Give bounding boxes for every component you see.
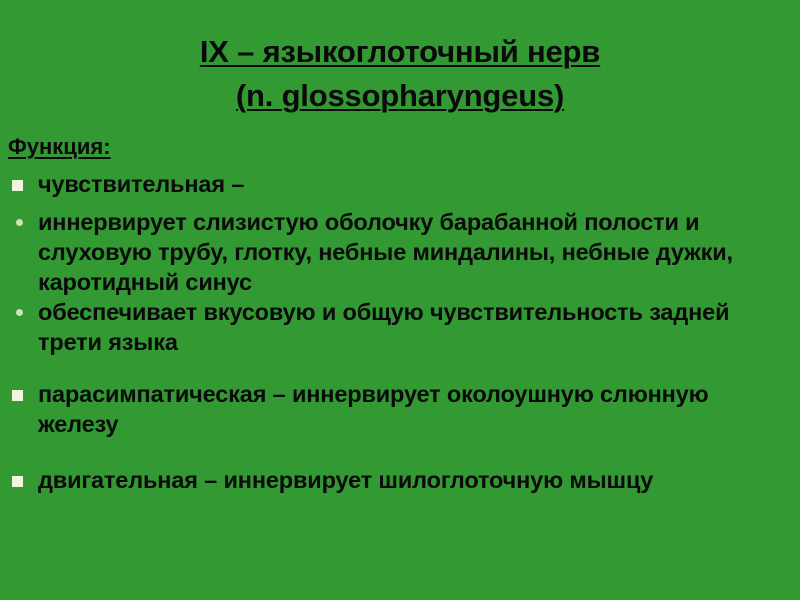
list-item-parasympathetic: парасимпатическая – иннервирует околоушн… xyxy=(0,379,800,439)
list-item-parasympathetic-text: парасимпатическая – иннервирует околоушн… xyxy=(38,379,792,439)
spacer xyxy=(0,439,800,465)
list-item-sensory-text: чувствительная – xyxy=(38,169,792,199)
function-heading-label: Функция: xyxy=(8,134,111,159)
square-bullet-icon xyxy=(12,180,23,191)
list-item-taste-sensation-text: обеспечивает вкусовую и общую чувствител… xyxy=(38,297,792,357)
list-item-mucosa-innervation: иннервирует слизистую оболочку барабанно… xyxy=(0,207,800,297)
dot-bullet-icon xyxy=(16,219,23,226)
slide-title-line-1: IX – языкоглоточный нерв xyxy=(0,30,800,74)
dot-bullet-icon xyxy=(16,309,23,316)
list-item-motor-text: двигательная – иннервирует шилоглоточную… xyxy=(38,465,792,495)
list-item-mucosa-innervation-text: иннервирует слизистую оболочку барабанно… xyxy=(38,207,792,297)
spacer xyxy=(0,357,800,379)
square-bullet-icon xyxy=(12,390,23,401)
slide-body: Функция: чувствительная – иннервирует сл… xyxy=(0,132,800,495)
list-item-motor: двигательная – иннервирует шилоглоточную… xyxy=(0,465,800,495)
spacer xyxy=(0,199,800,207)
list-item-sensory: чувствительная – xyxy=(0,169,800,199)
slide-title-line-1-text: IX – языкоглоточный нерв xyxy=(200,34,600,69)
slide-canvas: IX – языкоглоточный нерв (n. glossophary… xyxy=(0,0,800,600)
list-item-taste-sensation: обеспечивает вкусовую и общую чувствител… xyxy=(0,297,800,357)
square-bullet-icon xyxy=(12,476,23,487)
slide-title-line-2: (n. glossopharyngeus) xyxy=(0,74,800,118)
function-heading-row: Функция: xyxy=(0,132,800,162)
slide-title: IX – языкоглоточный нерв (n. glossophary… xyxy=(0,30,800,118)
slide-title-line-2-text: (n. glossopharyngeus) xyxy=(236,78,564,113)
